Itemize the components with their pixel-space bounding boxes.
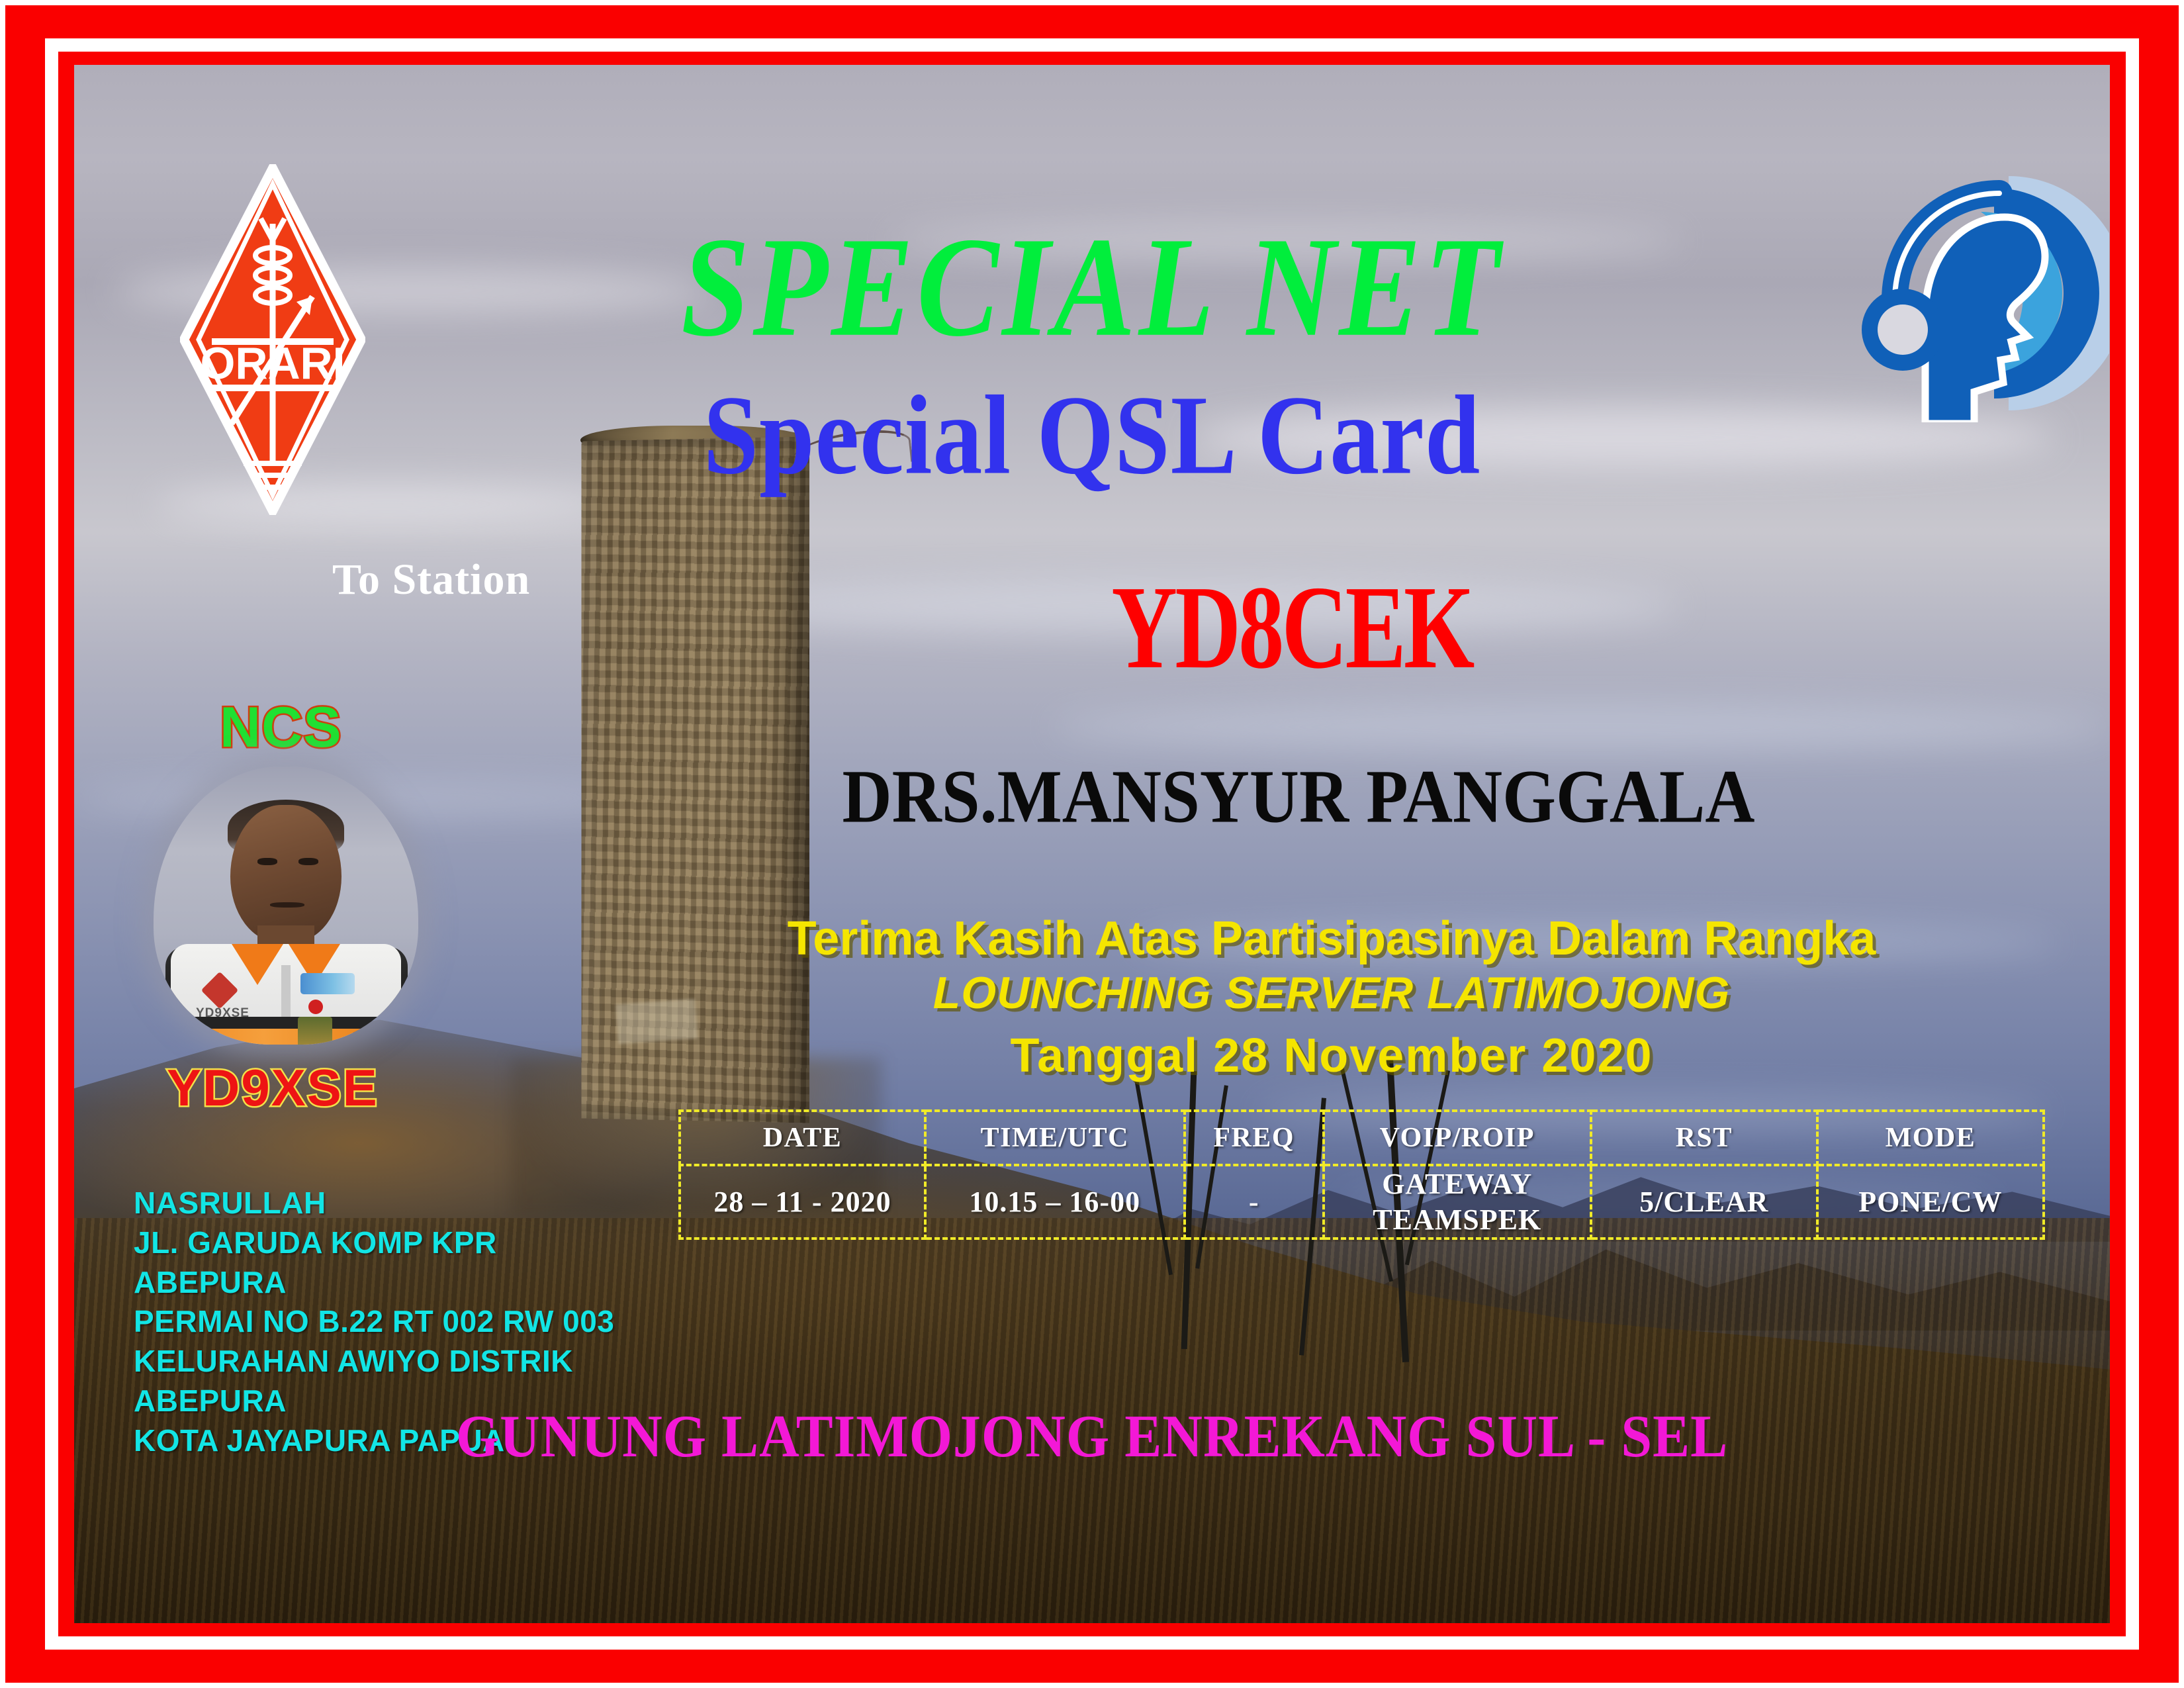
cell-mode: PONE/CW	[1817, 1165, 2044, 1239]
table-header-row: DATE TIME/UTC FREQ VOIP/ROIP RST MODE	[680, 1111, 2044, 1165]
cell-freq: -	[1185, 1165, 1324, 1239]
photo-id-card	[298, 1017, 332, 1045]
column-header-date: DATE	[680, 1111, 925, 1165]
cell-time-utc: 10.15 – 16-00	[925, 1165, 1185, 1239]
qsl-card: ORARI	[0, 0, 2184, 1688]
page-subtitle-qsl-card: Special QSL Card	[74, 379, 2110, 492]
column-header-mode: MODE	[1817, 1111, 2044, 1165]
address-line: KELURAHAN AWIYO DISTRIK	[134, 1342, 614, 1382]
to-station-label: To Station	[332, 555, 530, 605]
qso-log-table: DATE TIME/UTC FREQ VOIP/ROIP RST MODE 28…	[678, 1109, 2045, 1240]
cell-date: 28 – 11 - 2020	[680, 1165, 925, 1239]
column-header-freq: FREQ	[1185, 1111, 1324, 1165]
address-line: NASRULLAH	[134, 1184, 614, 1223]
column-header-time-utc: TIME/UTC	[925, 1111, 1185, 1165]
location-line: GUNUNG LATIMOJONG ENREKANG SUL - SEL	[74, 1402, 2110, 1472]
photo-org-patch	[300, 973, 355, 994]
column-header-voip-roip: VOIP/ROIP	[1324, 1111, 1591, 1165]
thanks-line-2-event: LOUNCHING SERVER LATIMOJONG	[670, 965, 1993, 1021]
photo-face	[230, 805, 341, 943]
thanks-line-1: Terima Kasih Atas Partisipasinya Dalam R…	[670, 914, 1993, 965]
photo-mouth	[270, 902, 304, 908]
column-header-rst: RST	[1591, 1111, 1817, 1165]
ncs-operator-photo: YD9XSE	[154, 767, 418, 1045]
photo-eye	[257, 858, 277, 865]
station-callsign: YD8CEK	[927, 568, 1657, 687]
cell-rst: 5/CLEAR	[1591, 1165, 1817, 1239]
photo-id-clip	[308, 1000, 323, 1014]
address-line: JL. GARUDA KOMP KPR	[134, 1223, 614, 1263]
address-line: ABEPURA	[134, 1263, 614, 1303]
thanks-block: Terima Kasih Atas Partisipasinya Dalam R…	[670, 914, 1993, 1090]
cell-voip-roip: GATEWAY TEAMSPEK	[1324, 1165, 1591, 1239]
address-line: PERMAI NO B.22 RT 002 RW 003	[134, 1302, 614, 1342]
photo-eye	[298, 858, 318, 865]
ncs-label: NCS	[220, 695, 342, 761]
table-row: 28 – 11 - 2020 10.15 – 16-00 - GATEWAY T…	[680, 1165, 2044, 1239]
operator-name: DRS.MANSYUR PANGGALA	[670, 753, 1927, 840]
cloud-streak	[1051, 704, 2110, 750]
card-photo-area: ORARI	[74, 65, 2110, 1623]
thanks-line-3-date: Tanggal 28 November 2020	[670, 1021, 1993, 1090]
photo-orange-sash	[176, 1029, 396, 1045]
ncs-callsign: YD9XSE	[167, 1058, 379, 1118]
page-title-special-net: SPECIAL NET	[74, 216, 2110, 359]
